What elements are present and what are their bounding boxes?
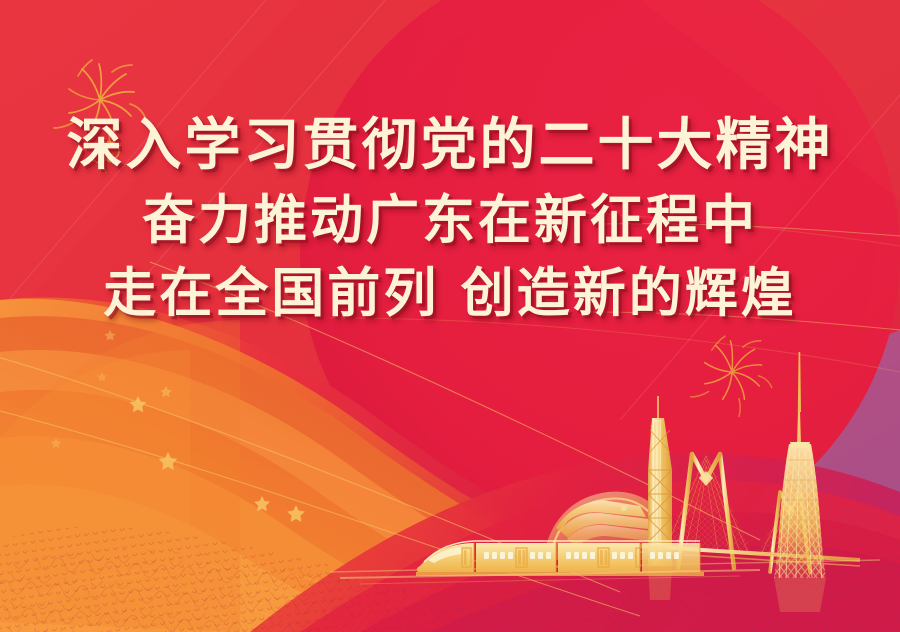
skyline-layer (0, 0, 900, 632)
canton-tower-landmark (774, 352, 826, 578)
poster-canvas: 深入学习贯彻党的二十大精神 奋力推动广东在新征程中 走在全国前列 创造新的辉煌 (0, 0, 900, 632)
high-speed-train-graphic (340, 541, 760, 584)
